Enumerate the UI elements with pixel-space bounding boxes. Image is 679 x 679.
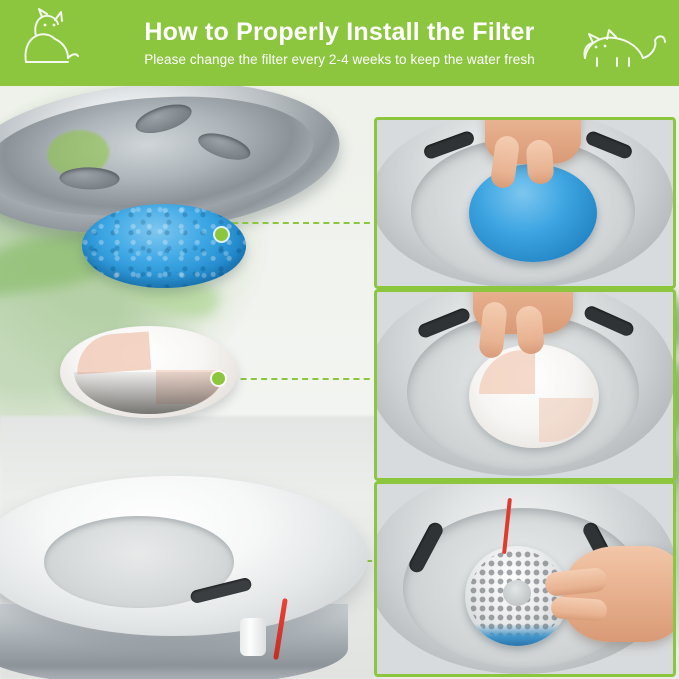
panel2-finger	[515, 305, 545, 355]
part-cotton-filter	[60, 326, 238, 418]
fountain-base-unit	[0, 476, 368, 679]
panel3-carbon-disc	[465, 546, 569, 646]
connector-line-1	[222, 222, 380, 224]
step-panel-blue-sponge	[374, 117, 676, 289]
step-panel-cotton-filter	[374, 289, 676, 481]
part-blue-sponge	[82, 204, 246, 288]
cotton-wedge	[75, 331, 151, 374]
step-panel-carbon-disc	[374, 481, 676, 677]
panel3-hand	[563, 546, 676, 642]
sponge-texture	[82, 204, 246, 288]
panel2-cotton-filter	[469, 344, 599, 448]
header-banner: How to Properly Install the Filter Pleas…	[0, 0, 679, 86]
panel3-finger	[550, 596, 607, 622]
panel1-finger	[525, 139, 554, 185]
base-pump-post	[240, 618, 266, 656]
panel3-center-hole	[503, 580, 531, 606]
connector-line-2	[220, 378, 380, 380]
cat-outline-right-icon	[577, 14, 669, 72]
cotton-lower-shadow	[74, 372, 224, 414]
callout-dot-2	[212, 372, 225, 385]
callout-dot-1	[215, 228, 228, 241]
infographic-page: How to Properly Install the Filter Pleas…	[0, 0, 679, 679]
product-photo-area	[0, 86, 679, 679]
